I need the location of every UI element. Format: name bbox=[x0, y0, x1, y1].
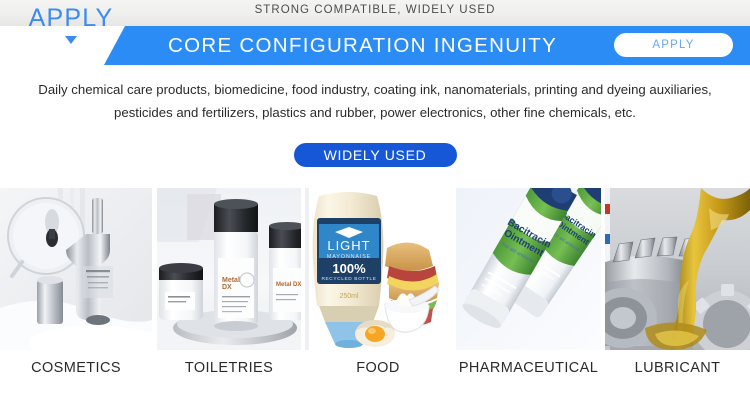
card-label-lubricant: LUBRICANT bbox=[605, 358, 750, 384]
apply-logo: APPLY bbox=[16, 6, 126, 44]
chevron-down-icon bbox=[65, 36, 77, 44]
card-food[interactable]: LIGHT MAYONNAISE 100% RECYCLED BOTTLE 25… bbox=[305, 188, 451, 350]
lubricant-image bbox=[605, 188, 750, 350]
card-label-pharmaceutical: PHARMACEUTICAL bbox=[456, 358, 601, 384]
card-cosmetics[interactable] bbox=[0, 188, 152, 350]
svg-text:Metal: Metal bbox=[222, 277, 240, 284]
widely-used-badge: WIDELY USED bbox=[294, 143, 457, 167]
svg-text:250ml: 250ml bbox=[339, 293, 359, 300]
apply-section: STRONG COMPATIBLE, WIDELY USED APPLY COR… bbox=[0, 0, 750, 409]
badge-row: WIDELY USED bbox=[0, 143, 750, 167]
banner-title: CORE CONFIGURATION INGENUITY bbox=[168, 33, 557, 59]
svg-text:100%: 100% bbox=[332, 261, 366, 276]
card-pharmaceutical[interactable]: Bacitracin Ointment first aid antibiotic… bbox=[456, 188, 601, 350]
card-label-row: COSMETICS TOILETRIES FOOD PHARMACEUTICAL… bbox=[0, 358, 750, 384]
food-bottle-light: LIGHT bbox=[327, 238, 370, 253]
page-header: STRONG COMPATIBLE, WIDELY USED APPLY COR… bbox=[0, 0, 750, 65]
card-label-cosmetics: COSMETICS bbox=[0, 358, 152, 384]
apply-button[interactable]: APPLY bbox=[614, 33, 733, 57]
card-lubricant[interactable] bbox=[605, 188, 750, 350]
svg-text:Metal DX: Metal DX bbox=[276, 282, 301, 288]
food-image: LIGHT MAYONNAISE 100% RECYCLED BOTTLE 25… bbox=[305, 188, 451, 350]
apply-logo-label: APPLY bbox=[16, 6, 126, 31]
cosmetics-image bbox=[0, 188, 152, 350]
card-label-food: FOOD bbox=[305, 358, 451, 384]
card-toiletries[interactable]: Metal DX Metal DX bbox=[157, 188, 301, 350]
svg-text:DX: DX bbox=[222, 284, 232, 291]
card-label-toiletries: TOILETRIES bbox=[157, 358, 301, 384]
toiletries-image: Metal DX Metal DX bbox=[157, 188, 301, 350]
svg-text:RECYCLED BOTTLE: RECYCLED BOTTLE bbox=[321, 276, 376, 282]
widely-used-badge-label: WIDELY USED bbox=[324, 147, 427, 163]
apply-button-label: APPLY bbox=[652, 39, 694, 51]
description-text: Daily chemical care products, biomedicin… bbox=[14, 78, 736, 124]
application-card-row: Metal DX Metal DX bbox=[0, 188, 750, 350]
pharmaceutical-image: Bacitracin Ointment first aid antibiotic… bbox=[456, 188, 601, 350]
svg-text:MAYONNAISE: MAYONNAISE bbox=[327, 254, 371, 260]
